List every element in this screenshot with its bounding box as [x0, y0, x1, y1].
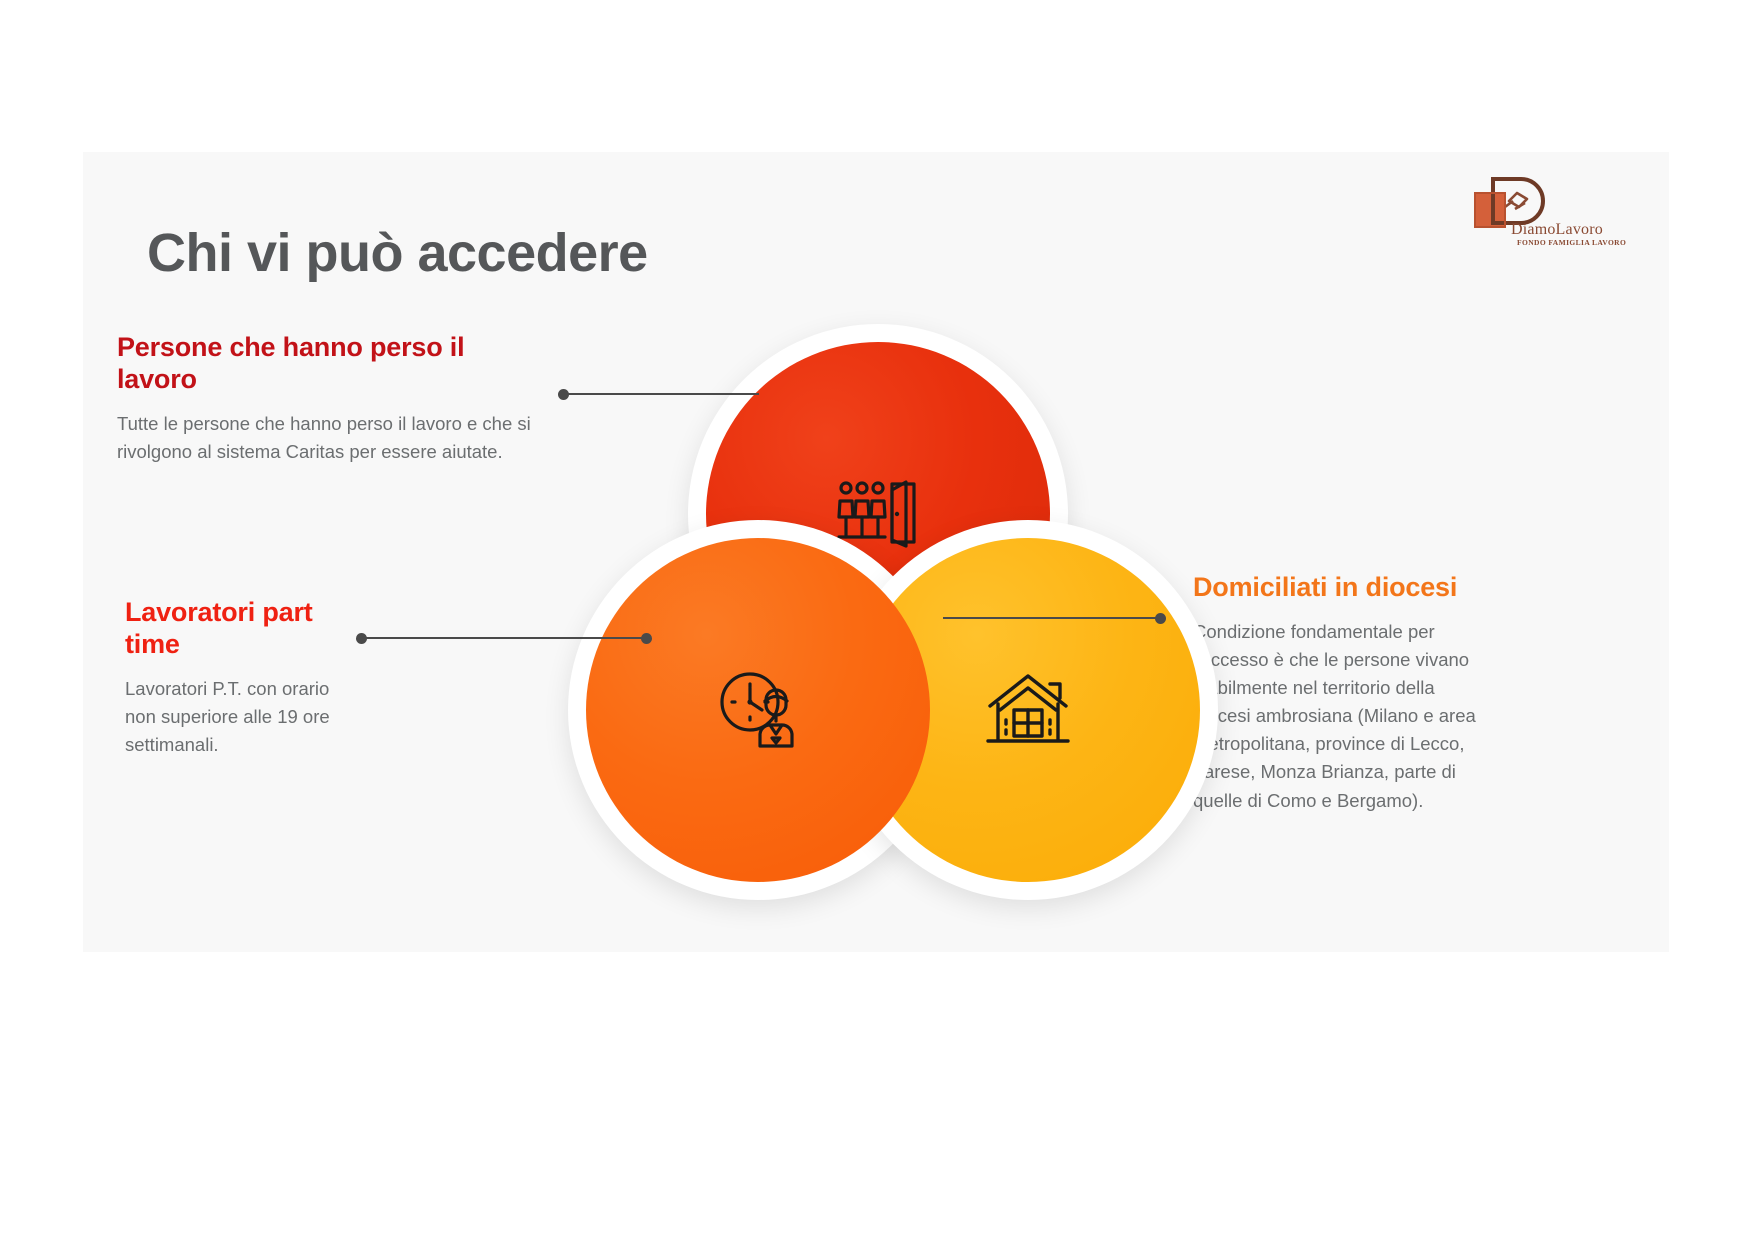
venn-circle-cluster — [483, 162, 1113, 892]
item-heading: Persone che hanno perso il lavoro — [117, 332, 547, 396]
house-icon — [986, 672, 1070, 748]
leader-dot-end — [641, 633, 652, 644]
item-lavoratori-part-time: Lavoratori part time Lavoratori P.T. con… — [121, 597, 351, 759]
logo-tagline: FONDO FAMIGLIA LAVORO — [1517, 238, 1626, 247]
diamolavoro-logo: DiamoLavoro FONDO FAMIGLIA LAVORO — [1473, 177, 1609, 249]
item-heading: Domiciliati in diocesi — [1193, 572, 1488, 604]
item-body: Condizione fondamentale per l'accesso è … — [1193, 618, 1488, 815]
item-body: Tutte le persone che hanno perso il lavo… — [117, 410, 547, 466]
leader-dot — [356, 633, 367, 644]
item-domiciliati-in-diocesi: Domiciliati in diocesi Condizione fondam… — [1193, 572, 1488, 815]
clock-worker-icon — [716, 670, 800, 750]
slide-canvas: Chi vi può accedere DiamoLavoro FONDO FA… — [83, 152, 1669, 952]
leader-dot — [558, 389, 569, 400]
item-persone-che-hanno-perso-il-lavoro: Persone che hanno perso il lavoro Tutte … — [117, 332, 547, 466]
leader-line-persone — [561, 393, 759, 395]
logo-name: DiamoLavoro — [1511, 221, 1603, 239]
leader-dot — [1155, 613, 1166, 624]
leader-line-lavoratori — [359, 637, 649, 639]
people-door-icon — [835, 476, 921, 552]
item-heading: Lavoratori part time — [125, 597, 351, 661]
circle-lavoratori-part-time[interactable] — [586, 538, 930, 882]
leader-line-domiciliati — [943, 617, 1163, 619]
item-body: Lavoratori P.T. con orario non superiore… — [125, 675, 351, 759]
